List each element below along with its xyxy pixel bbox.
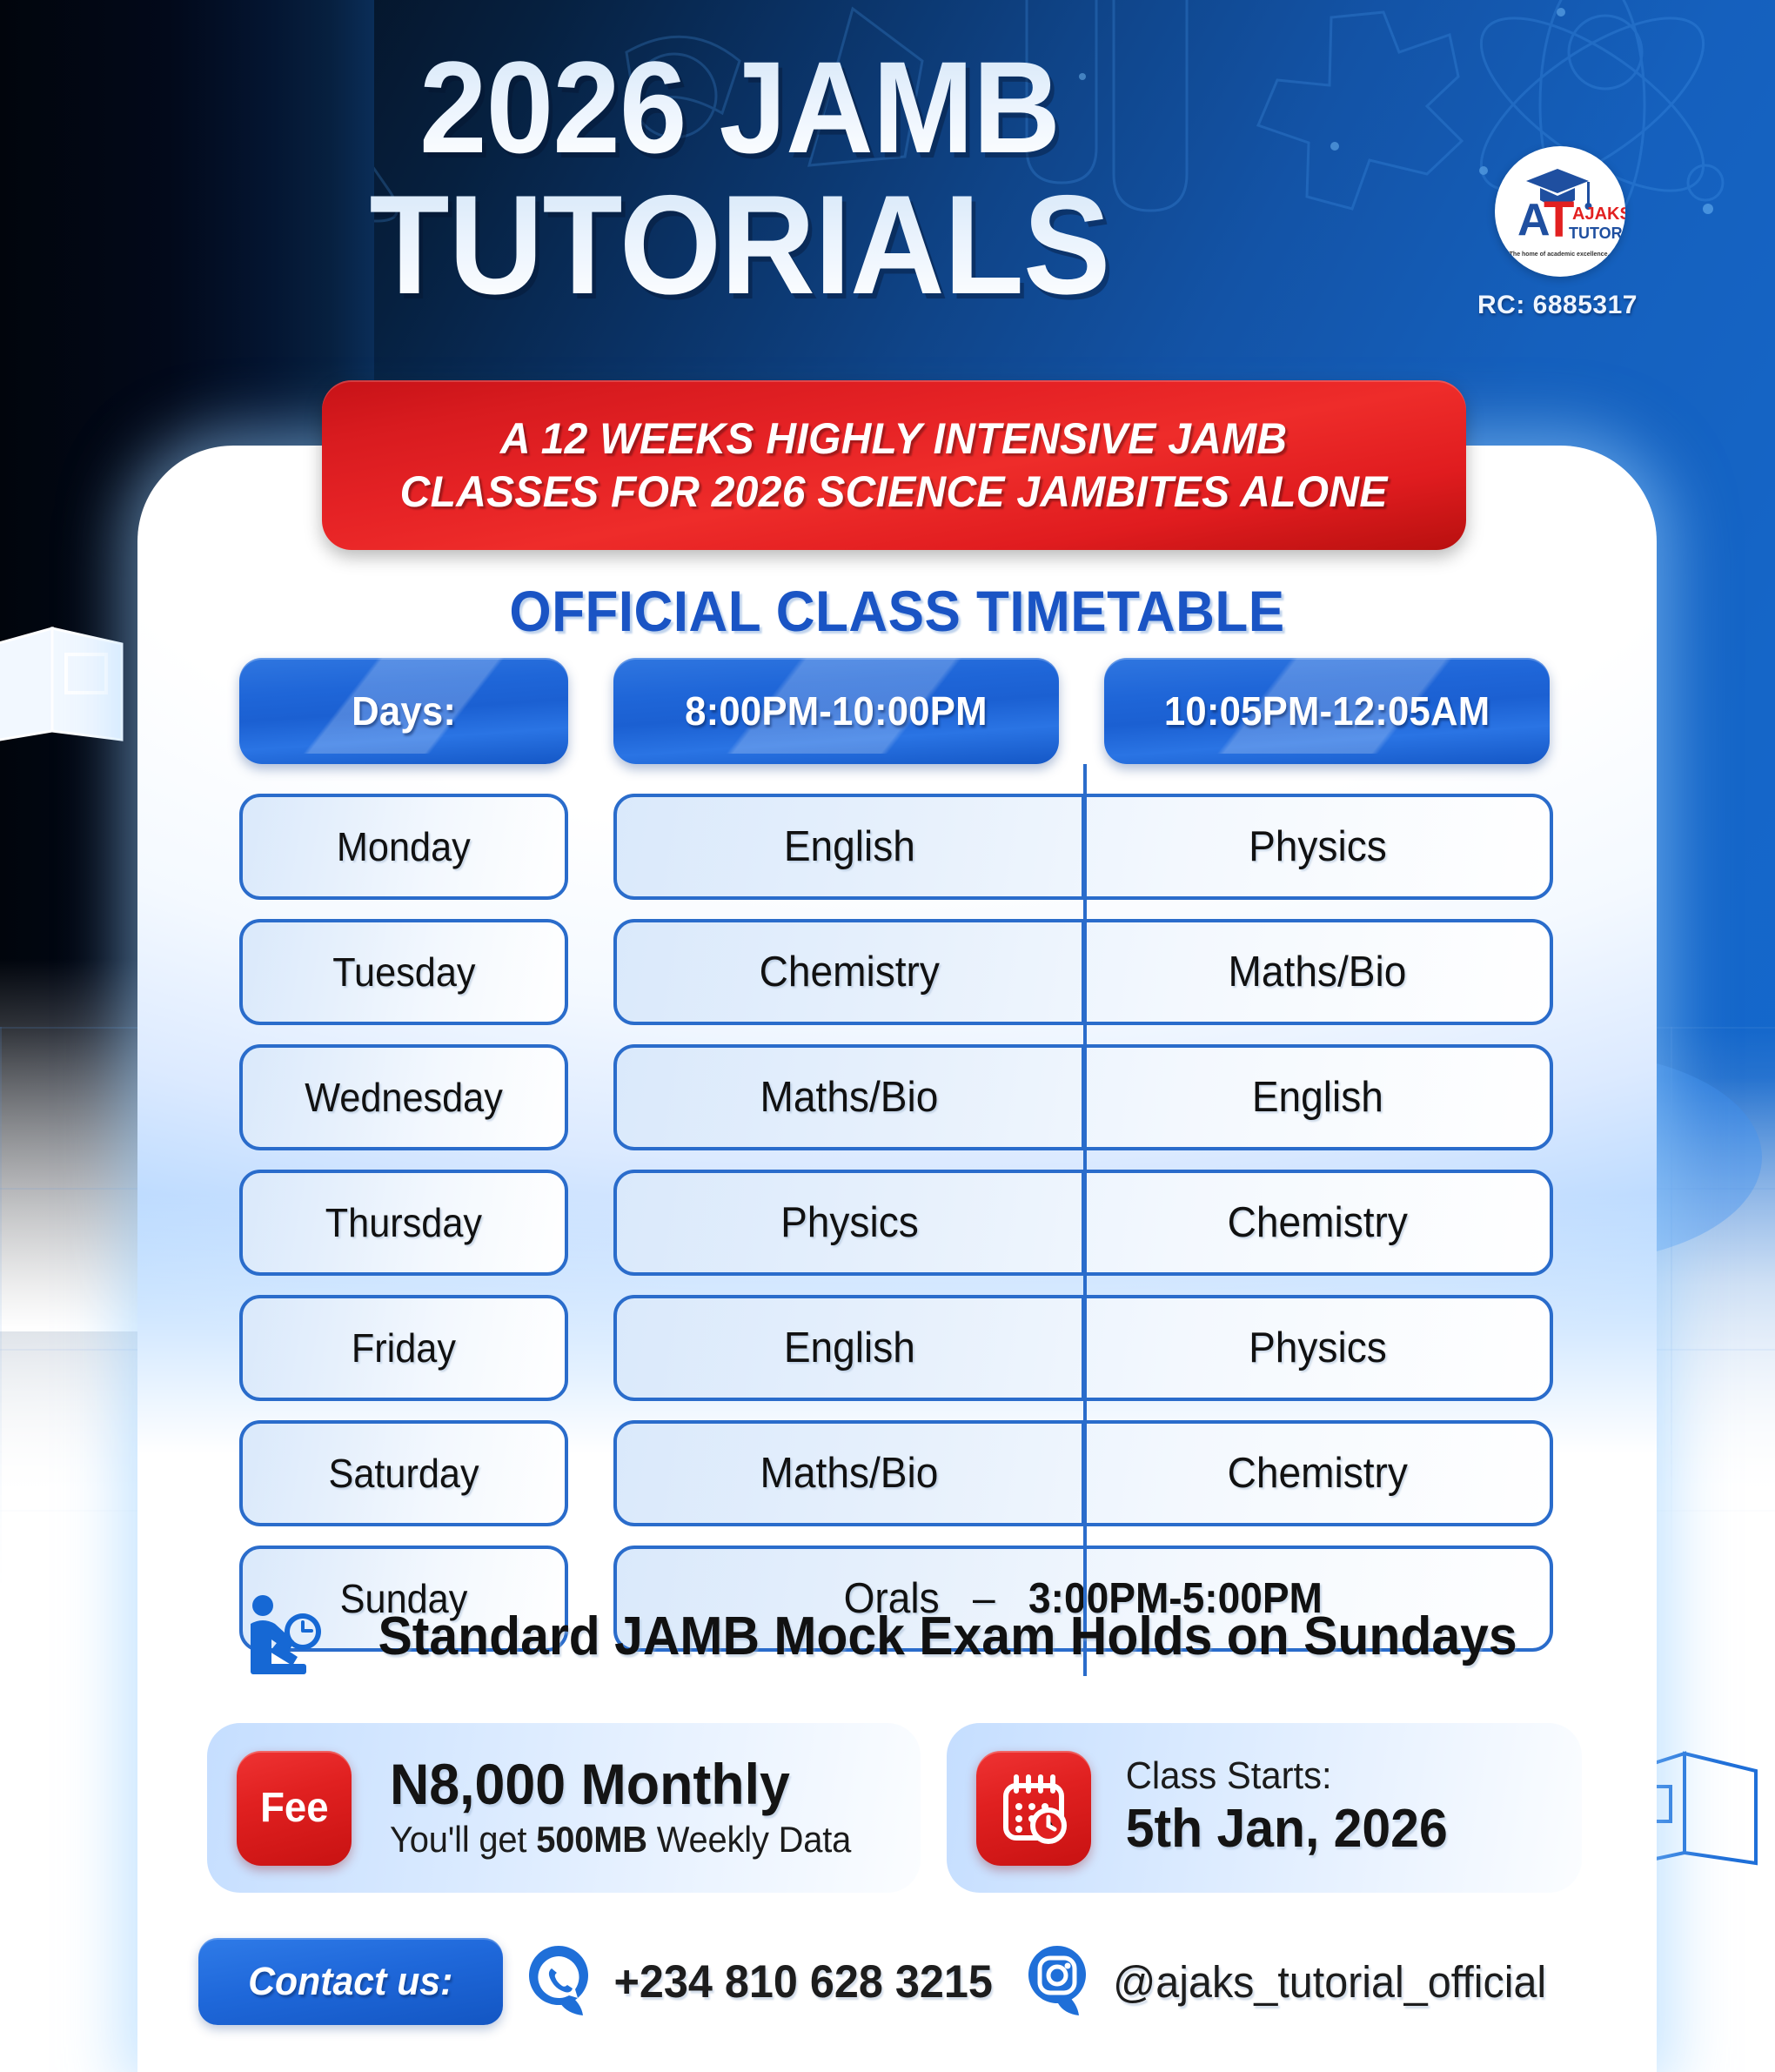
row-gap: [568, 1295, 613, 1401]
subject-label: Maths/Bio: [1229, 948, 1407, 996]
timetable: Days: 8:00PM-10:00PM 10:05PM-12:05AM Mon…: [239, 658, 1553, 1671]
contact-us-chip: Contact us:: [198, 1938, 503, 2025]
subject-slot-1: Maths/Bio: [617, 1048, 1082, 1147]
row-gap: [568, 1044, 613, 1150]
timetable-header-row: Days: 8:00PM-10:00PM 10:05PM-12:05AM: [239, 658, 1553, 764]
subject-label: Maths/Bio: [760, 1449, 939, 1498]
brand-logo: A T AJAKS TUTORIALS The home of academic…: [1495, 146, 1625, 320]
fee-text-block: N8,000 Monthly You'll get 500MB Weekly D…: [378, 1755, 863, 1861]
subject-label: Maths/Bio: [760, 1073, 939, 1122]
table-row: Thursday Physics Chemistry: [239, 1170, 1553, 1276]
column-header-slot-2-label: 10:05PM-12:05AM: [1164, 687, 1490, 734]
header-gap: [568, 658, 613, 764]
column-header-slot-1-label: 8:00PM-10:00PM: [685, 687, 988, 734]
column-divider-line: [1083, 764, 1087, 1676]
mock-exam-note-label: Standard JAMB Mock Exam Holds on Sundays: [378, 1606, 1517, 1667]
day-cell: Tuesday: [239, 919, 568, 1025]
fee-subtext-post: Weekly Data: [647, 1819, 851, 1860]
fee-subtext-pre: You'll get: [390, 1819, 536, 1860]
day-cell: Friday: [239, 1295, 568, 1401]
fee-card: Fee N8,000 Monthly You'll get 500MB Week…: [207, 1723, 921, 1893]
instagram-contact[interactable]: @ajaks_tutorial_official: [1025, 1944, 1557, 2019]
day-label: Tuesday: [332, 949, 475, 996]
mock-exam-note: Standard JAMB Mock Exam Holds on Sundays: [239, 1579, 1553, 1693]
title-line-1: 2026 JAMB: [52, 45, 1428, 170]
calendar-glyph: [994, 1768, 1074, 1848]
fee-amount: N8,000 Monthly: [390, 1755, 851, 1814]
day-cell: Wednesday: [239, 1044, 568, 1150]
class-start-text-block: Class Starts: 5th Jan, 2026: [1117, 1756, 1456, 1860]
subject-label: English: [783, 822, 914, 871]
table-row: Monday English Physics: [239, 794, 1553, 900]
promo-banner-line-2: CLASSES FOR 2026 SCIENCE JAMBITES ALONE: [400, 466, 1388, 519]
info-cards: Fee N8,000 Monthly You'll get 500MB Week…: [207, 1723, 1582, 1893]
header-gap-2: [1059, 658, 1104, 764]
ajaks-tutorials-logo-mark: A T AJAKS TUTORIALS The home of academic…: [1495, 146, 1625, 277]
subject-label: Chemistry: [759, 948, 939, 996]
day-cell: Monday: [239, 794, 568, 900]
timetable-title: OFFICIAL CLASS TIMETABLE: [183, 578, 1611, 644]
column-header-slot-1: 8:00PM-10:00PM: [613, 658, 1059, 764]
subject-slot-1: Maths/Bio: [617, 1424, 1082, 1523]
fee-badge-label: Fee: [260, 1784, 329, 1832]
title-line-2: TUTORIALS: [52, 178, 1428, 312]
svg-text:TUTORIALS: TUTORIALS: [1569, 225, 1625, 242]
instagram-handle[interactable]: @ajaks_tutorial_official: [1113, 1956, 1546, 2008]
subject-slot-2: Maths/Bio: [1085, 922, 1550, 1022]
instagram-icon[interactable]: [1025, 1944, 1089, 2019]
subject-slot-1: English: [617, 797, 1082, 896]
subject-slot-2: Chemistry: [1085, 1173, 1550, 1272]
table-row: Wednesday Maths/Bio English: [239, 1044, 1553, 1150]
svg-text:The home of academic excellenc: The home of academic excellence..: [1510, 251, 1611, 258]
subject-slot-1: Physics: [617, 1173, 1082, 1272]
subject-label: Chemistry: [1227, 1449, 1407, 1498]
fee-subtext-bold: 500MB: [536, 1819, 647, 1860]
promo-banner: A 12 WEEKS HIGHLY INTENSIVE JAMB CLASSES…: [322, 380, 1466, 550]
day-label: Monday: [337, 823, 471, 870]
fee-subtext: You'll get 500MB Weekly Data: [390, 1819, 851, 1861]
column-header-slot-2: 10:05PM-12:05AM: [1104, 658, 1550, 764]
contact-us-label: Contact us:: [248, 1959, 452, 2004]
whatsapp-contact[interactable]: +234 810 628 3215: [526, 1944, 1002, 2019]
class-start-date: 5th Jan, 2026: [1126, 1798, 1448, 1860]
column-header-days: Days:: [239, 658, 568, 764]
day-label: Friday: [352, 1324, 456, 1371]
day-label: Thursday: [325, 1199, 482, 1246]
subject-label: Physics: [1249, 1324, 1387, 1372]
calendar-clock-icon: [976, 1751, 1091, 1866]
whatsapp-icon[interactable]: [526, 1944, 592, 2019]
subject-slot-2: Physics: [1085, 1298, 1550, 1398]
contact-bar: Contact us: +234 810 628 3215 @ajaks_tut…: [198, 1934, 1591, 2029]
subject-label: Chemistry: [1227, 1198, 1407, 1247]
subject-slot-1: English: [617, 1298, 1082, 1398]
row-gap: [568, 1420, 613, 1526]
day-label: Saturday: [328, 1450, 479, 1497]
subject-slot-2: English: [1085, 1048, 1550, 1147]
row-gap: [568, 1170, 613, 1276]
timetable-body: Monday English Physics Tuesday: [239, 794, 1553, 1652]
table-row: Saturday Maths/Bio Chemistry: [239, 1420, 1553, 1526]
open-book-icon-left: [0, 609, 135, 757]
column-header-days-label: Days:: [352, 687, 456, 734]
rc-number: RC: 6885317: [1477, 291, 1608, 320]
table-row: Tuesday Chemistry Maths/Bio: [239, 919, 1553, 1025]
day-cell: Thursday: [239, 1170, 568, 1276]
logo-circle: A T AJAKS TUTORIALS The home of academic…: [1495, 146, 1625, 277]
svg-text:AJAKS: AJAKS: [1572, 205, 1625, 224]
promo-banner-line-1: A 12 WEEKS HIGHLY INTENSIVE JAMB: [400, 412, 1388, 466]
promo-banner-text: A 12 WEEKS HIGHLY INTENSIVE JAMB CLASSES…: [400, 412, 1388, 519]
subject-slot-2: Physics: [1085, 797, 1550, 896]
table-row: Friday English Physics: [239, 1295, 1553, 1401]
poster-root: 2026 JAMB TUTORIALS A T AJAKS TUTOR: [0, 0, 1775, 2072]
student-at-desk-clock-icon: [245, 1594, 325, 1678]
subject-label: Physics: [1249, 822, 1387, 871]
day-label: Wednesday: [305, 1074, 503, 1121]
subject-label: English: [783, 1324, 914, 1372]
subject-label: English: [1251, 1073, 1383, 1122]
subject-slot-1: Chemistry: [617, 922, 1082, 1022]
subject-label: Physics: [780, 1198, 919, 1247]
day-cell: Saturday: [239, 1420, 568, 1526]
whatsapp-phone-number[interactable]: +234 810 628 3215: [613, 1955, 992, 2008]
row-gap: [568, 919, 613, 1025]
class-start-card: Class Starts: 5th Jan, 2026: [947, 1723, 1582, 1893]
fee-badge-icon: Fee: [237, 1751, 352, 1866]
subject-slot-2: Chemistry: [1085, 1424, 1550, 1523]
row-gap: [568, 794, 613, 900]
class-start-label: Class Starts:: [1126, 1756, 1448, 1796]
poster-title: 2026 JAMB TUTORIALS: [0, 45, 1479, 312]
